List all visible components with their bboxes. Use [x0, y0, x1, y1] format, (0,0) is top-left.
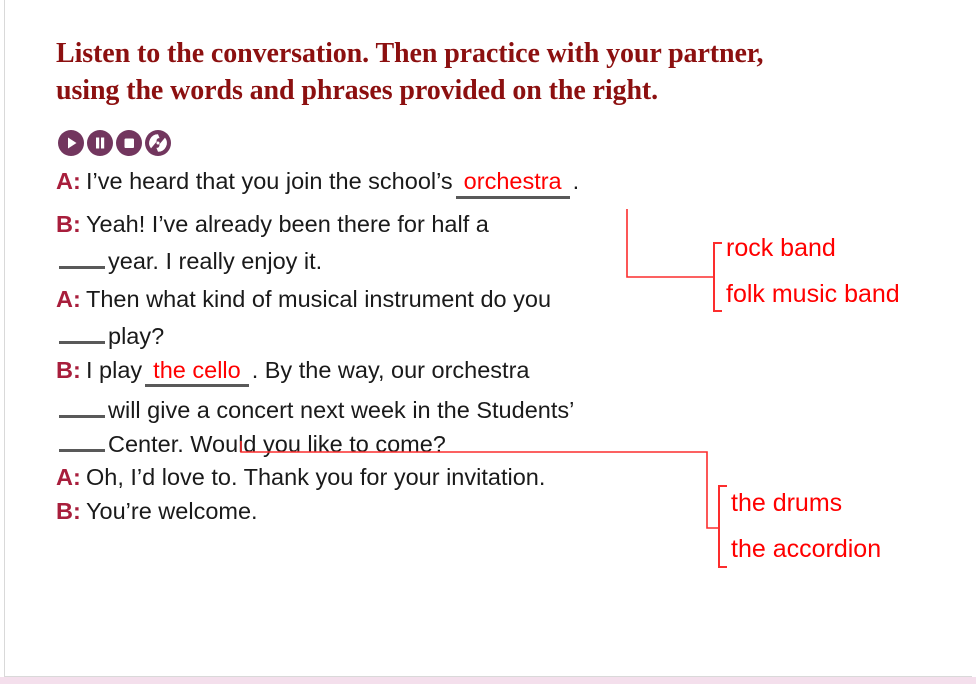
media-controls [58, 130, 171, 156]
answer-blank-the-cello[interactable]: the cello [145, 359, 249, 388]
speaker-label-empty [59, 339, 105, 344]
speaker-label-empty [59, 447, 105, 452]
dialogue-text: I’ve heard that you join the school’s [86, 170, 453, 194]
dialogue-line: B: You’re welcome. [56, 500, 716, 524]
prompt-item[interactable]: folk music band [726, 282, 900, 307]
dialogue-line: will give a concert next week in the Stu… [56, 399, 716, 423]
worksheet-page: Listen to the conversation. Then practic… [0, 0, 976, 684]
page-title-line-2: using the words and phrases provided on … [56, 73, 956, 110]
dialogue-block: A: I’ve heard that you join the school’s… [56, 170, 716, 523]
speaker-label: B: [56, 359, 86, 383]
prompt-item[interactable]: the accordion [731, 537, 881, 562]
play-button[interactable] [58, 130, 84, 156]
page-border-left [4, 0, 5, 678]
play-icon [58, 130, 84, 156]
speaker-label: A: [56, 170, 86, 194]
dialogue-line: A: Then what kind of musical instrument … [56, 288, 716, 312]
prompt-set-orchestra: rock band folk music band [726, 236, 900, 307]
speaker-label: B: [56, 213, 86, 237]
dialogue-text: Center. Would you like to come? [108, 433, 446, 457]
speaker-label: B: [56, 500, 86, 524]
dialogue-text: You’re welcome. [86, 500, 258, 524]
stop-icon [116, 130, 142, 156]
dialogue-text: play? [108, 325, 164, 349]
dialogue-text: Oh, I’d love to. Thank you for your invi… [86, 466, 545, 490]
page-title-line-1: Listen to the conversation. Then practic… [56, 36, 956, 73]
pause-button[interactable] [87, 130, 113, 156]
page-title: Listen to the conversation. Then practic… [56, 36, 956, 110]
dialogue-line: Center. Would you like to come? [56, 433, 716, 457]
dialogue-line: B: Yeah! I’ve already been there for hal… [56, 213, 716, 237]
dialogue-text: Then what kind of musical instrument do … [86, 288, 551, 312]
dialogue-line: play? [56, 325, 716, 349]
answer-blank-orchestra[interactable]: orchestra [456, 170, 570, 199]
speaker-label: A: [56, 466, 86, 490]
dialogue-line: B: I play the cello . By the way, our or… [56, 359, 716, 388]
stop-button[interactable] [116, 130, 142, 156]
prompt-item[interactable]: the drums [731, 491, 881, 516]
disc-icon [145, 130, 171, 156]
dialogue-text-after: . By the way, our orchestra [252, 359, 530, 383]
dialogue-text: will give a concert next week in the Stu… [108, 399, 574, 423]
prompt-set-the-cello: the drums the accordion [731, 491, 881, 562]
speaker-label-empty [59, 413, 105, 418]
dialogue-line: year. I really enjoy it. [56, 250, 716, 274]
dialogue-text-after: . [573, 170, 580, 194]
bottom-accent-band [0, 677, 976, 684]
pause-icon [87, 130, 113, 156]
dialogue-text: Yeah! I’ve already been there for half a [86, 213, 489, 237]
speaker-label: A: [56, 288, 86, 312]
dialogue-text: I play [86, 359, 142, 383]
dialogue-text: year. I really enjoy it. [108, 250, 322, 274]
speaker-label-empty [59, 264, 105, 269]
disc-button[interactable] [145, 130, 171, 156]
prompt-item[interactable]: rock band [726, 236, 900, 261]
dialogue-line: A: I’ve heard that you join the school’s… [56, 170, 716, 199]
dialogue-line: A: Oh, I’d love to. Thank you for your i… [56, 466, 716, 490]
